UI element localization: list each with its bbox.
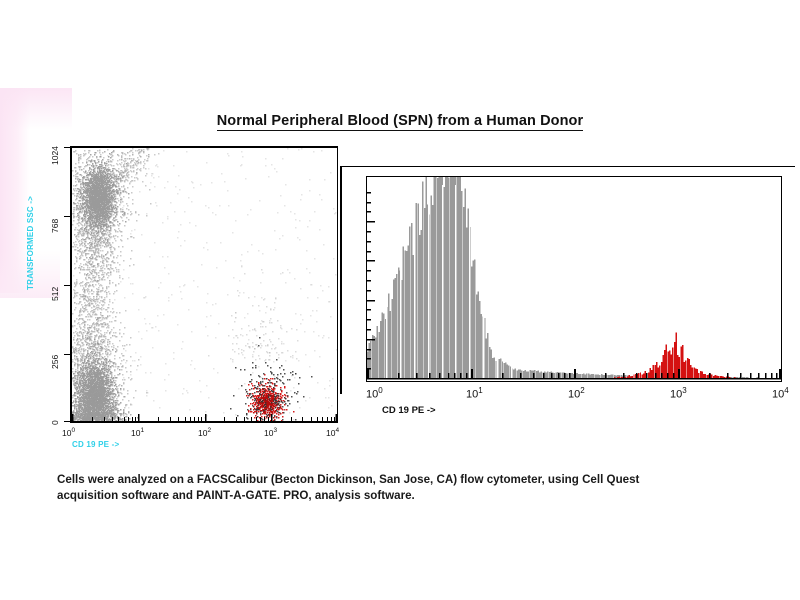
scatter-plot-canvas [72, 148, 337, 421]
histogram-x-tick-label: 101 [466, 386, 483, 401]
histogram-x-tick-exp: 3 [682, 386, 686, 395]
scatter-y-tick-label: 512 [50, 287, 60, 301]
histogram-x-tick-exp: 4 [784, 386, 788, 395]
scatter-y-tick-mark [64, 216, 70, 217]
scatter-x-tick-exp: 2 [207, 427, 211, 434]
scatter-y-tick-mark [64, 147, 70, 148]
flow-cytometry-figure: Normal Peripheral Blood (SPN) from a Hum… [0, 0, 800, 600]
scatter-x-tick-label: 101 [131, 427, 144, 438]
histogram-x-tick-label: 104 [772, 386, 789, 401]
scatter-y-tick-mark [64, 421, 70, 422]
histogram-panel [366, 176, 782, 382]
histogram-x-tick-base: 10 [670, 389, 682, 401]
scatter-x-tick-exp: 4 [335, 427, 339, 434]
scatter-x-tick-label: 104 [326, 427, 339, 438]
scatter-y-tick-label: 1024 [50, 146, 60, 165]
scatter-x-axis-label: CD 19 PE -> [72, 440, 119, 449]
figure-caption: Cells were analyzed on a FACSCalibur (Be… [57, 472, 697, 504]
histogram-x-tick-label: 100 [366, 386, 383, 401]
scatter-y-tick-mark [64, 285, 70, 286]
histogram-x-tick-exp: 1 [478, 386, 482, 395]
caption-line-1: Cells were analyzed on a FACSCalibur (Be… [57, 473, 639, 486]
scatter-y-axis-label: TRANSFORMED SSC -> [26, 196, 35, 290]
histogram-x-tick-exp: 0 [378, 386, 382, 395]
scatter-x-tick-exp: 1 [140, 427, 144, 434]
caption-line-2: acquisition software and PAINT-A-GATE. P… [57, 489, 415, 502]
scatter-x-tick-label: 102 [198, 427, 211, 438]
histogram-x-tick-exp: 2 [580, 386, 584, 395]
histogram-canvas [367, 177, 781, 381]
histogram-x-tick-base: 10 [568, 389, 580, 401]
histogram-x-tick-base: 10 [466, 389, 478, 401]
scatter-x-tick-label: 103 [264, 427, 277, 438]
histogram-x-tick-base: 10 [366, 389, 378, 401]
scatter-y-tick-label: 0 [50, 420, 60, 425]
scatter-x-tick-exp: 3 [273, 427, 277, 434]
figure-title: Normal Peripheral Blood (SPN) from a Hum… [0, 113, 800, 129]
scatter-y-tick-label: 256 [50, 355, 60, 369]
scatter-x-tick-exp: 0 [71, 427, 75, 434]
scatter-y-tick-mark [64, 354, 70, 355]
scatter-y-tick-label: 768 [50, 219, 60, 233]
histogram-x-axis-label: CD 19 PE -> [382, 405, 436, 416]
histogram-x-tick-label: 102 [568, 386, 585, 401]
scatter-plot-panel [70, 146, 338, 423]
histogram-x-tick-base: 10 [772, 389, 784, 401]
histogram-x-tick-label: 103 [670, 386, 687, 401]
scatter-x-tick-label: 100 [62, 427, 75, 438]
figure-title-text: Normal Peripheral Blood (SPN) from a Hum… [217, 113, 584, 131]
